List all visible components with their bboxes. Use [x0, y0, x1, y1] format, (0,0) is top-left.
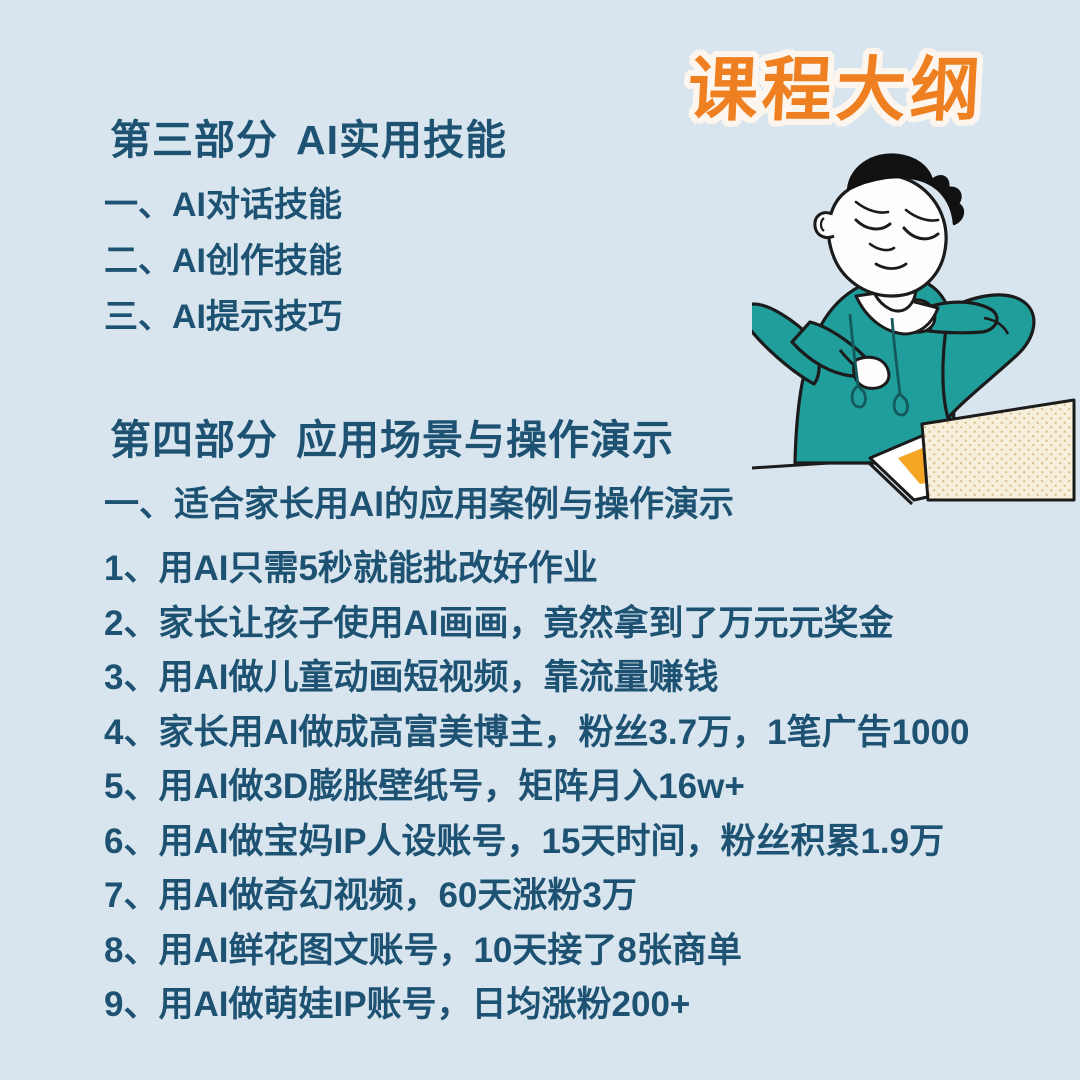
- right-eye-closed: [904, 228, 938, 239]
- left-arm: [752, 304, 819, 384]
- list-item: 5、用AI做3D膨胀壁纸号，矩阵月入16w+: [104, 760, 969, 815]
- left-sleeve-cuff: [840, 350, 864, 372]
- neck: [868, 270, 916, 311]
- hair-side: [848, 171, 896, 190]
- section-part-four: 第四部分应用场景与操作演示 一、适合家长用AI的应用案例与操作演示 1、用AI只…: [104, 420, 969, 1033]
- ear-inner: [821, 218, 824, 231]
- section-part-three: 第三部分AI实用技能 一、AI对话技能 二、AI创作技能 三、AI提示技巧: [104, 120, 507, 345]
- right-elbow-crease: [984, 318, 1008, 334]
- part-three-heading-name: AI实用技能: [296, 117, 507, 163]
- list-item: 二、AI创作技能: [104, 233, 507, 289]
- list-item: 2、家长让孩子使用AI画画，竟然拿到了万元元奖金: [104, 597, 969, 652]
- head: [829, 175, 947, 296]
- part-four-subheading: 一、适合家长用AI的应用案例与操作演示: [104, 487, 969, 522]
- left-forearm: [792, 322, 866, 376]
- list-item: 6、用AI做宝妈IP人设账号，15天时间，粉丝积累1.9万: [104, 815, 969, 870]
- hair: [848, 155, 963, 224]
- part-three-heading-number: 第三部分: [110, 117, 278, 163]
- mouth: [876, 264, 906, 269]
- part-four-heading-name: 应用场景与操作演示: [296, 417, 674, 463]
- list-item: 三、AI提示技巧: [104, 289, 507, 345]
- part-three-heading: 第三部分AI实用技能: [104, 120, 507, 161]
- list-item: 7、用AI做奇幻视频，60天涨粉3万: [104, 869, 969, 924]
- list-item: 8、用AI鲜花图文账号，10天接了8张商单: [104, 924, 969, 979]
- list-item: 9、用AI做萌娃IP账号，日均涨粉200+: [104, 978, 969, 1033]
- right-forearm: [910, 302, 997, 333]
- part-three-item-list: 一、AI对话技能 二、AI创作技能 三、AI提示技巧: [104, 177, 507, 345]
- hoodie-collar: [856, 292, 938, 334]
- list-item: 4、家长用AI做成高富美博主，粉丝3.7万，1笔广告1000: [104, 706, 969, 761]
- list-item: 3、用AI做儿童动画短视频，靠流量赚钱: [104, 651, 969, 706]
- part-four-heading-number: 第四部分: [110, 417, 278, 463]
- left-eyebrow: [856, 202, 888, 213]
- left-eye-closed: [856, 220, 890, 229]
- right-arm: [943, 295, 1034, 418]
- page-title: 课程大纲: [664, 44, 1008, 136]
- list-item: 一、AI对话技能: [104, 177, 507, 233]
- drawstring-left: [850, 314, 858, 386]
- right-eyebrow: [906, 210, 938, 221]
- poster-canvas: 课程大纲 第三部分AI实用技能 一、AI对话技能 二、AI创作技能 三、AI提示…: [0, 0, 1080, 1080]
- drawstring-right-loop: [894, 394, 907, 415]
- part-four-case-list: 1、用AI只需5秒就能批改好作业 2、家长让孩子使用AI画画，竟然拿到了万元元奖…: [104, 542, 969, 1033]
- right-sleeve-cuff: [930, 306, 932, 330]
- right-hand: [900, 300, 935, 332]
- ear: [815, 213, 834, 238]
- nose: [870, 244, 894, 250]
- part-four-heading: 第四部分应用场景与操作演示: [104, 420, 969, 461]
- page-title-text: 课程大纲: [686, 55, 986, 125]
- left-hand: [854, 357, 889, 388]
- drawstring-right: [892, 318, 900, 394]
- drawstring-left-loop: [852, 386, 865, 407]
- list-item: 1、用AI只需5秒就能批改好作业: [104, 542, 969, 597]
